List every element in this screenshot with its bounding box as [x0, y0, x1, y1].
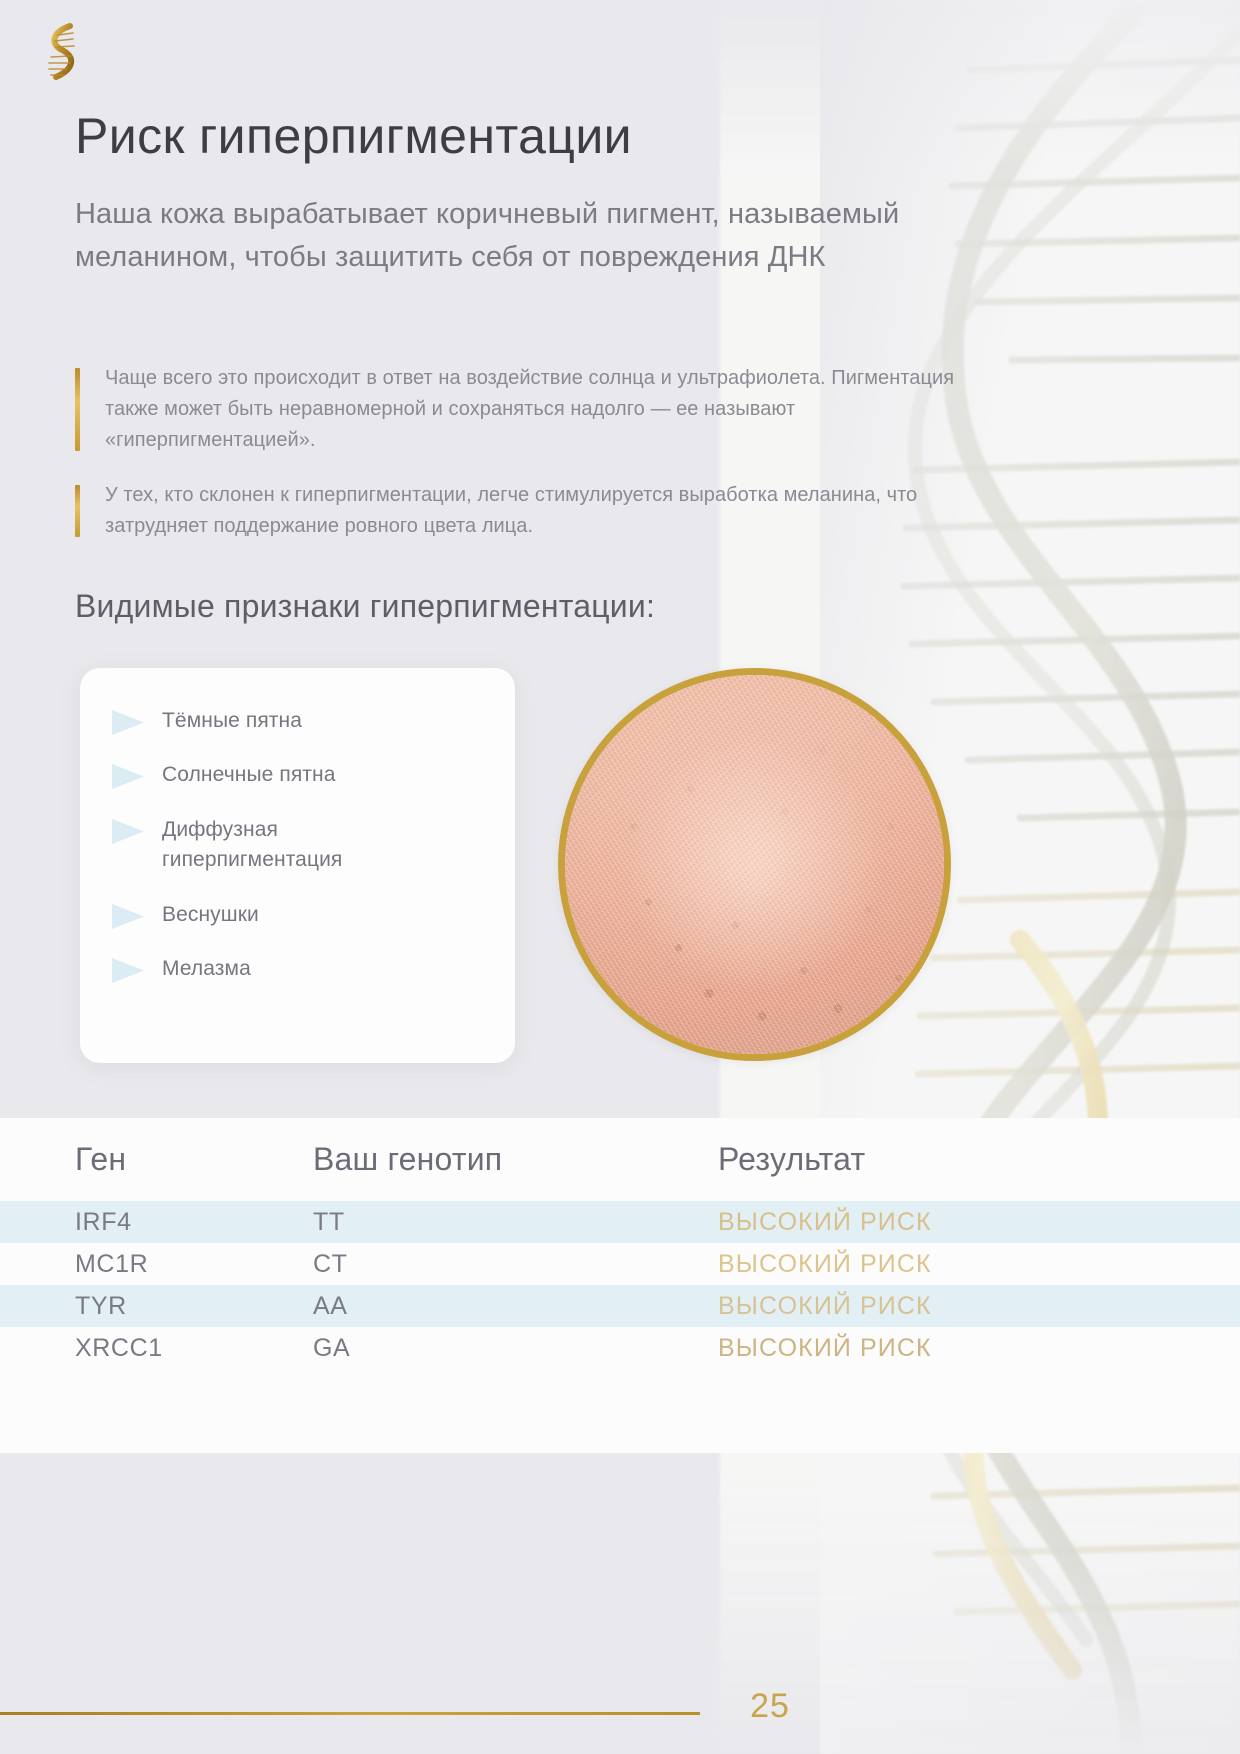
cell-genotype: TT	[313, 1208, 718, 1237]
triangle-right-icon	[110, 709, 146, 736]
list-item: Тёмные пятна	[110, 706, 515, 736]
list-item: Мелазма	[110, 954, 515, 984]
column-header-result: Результат	[718, 1141, 1240, 1178]
table-row: TYR AA ВЫСОКИЙ РИСК	[0, 1285, 1240, 1327]
list-item-label: Тёмные пятна	[162, 706, 302, 736]
highlight-paragraph-1: Чаще всего это происходит в ответ на воз…	[75, 363, 1005, 456]
cell-gene: XRCC1	[0, 1334, 313, 1363]
column-header-gene: Ген	[0, 1141, 313, 1178]
table-row: IRF4 TT ВЫСОКИЙ РИСК	[0, 1201, 1240, 1243]
status-badge: ВЫСОКИЙ РИСК	[718, 1208, 1240, 1237]
list-item: Солнечные пятна	[110, 760, 515, 790]
status-badge: ВЫСОКИЙ РИСК	[718, 1292, 1240, 1321]
cell-gene: MC1R	[0, 1250, 313, 1279]
list-item: Диффузная гиперпигментация	[110, 815, 515, 876]
highlight-paragraph-2: У тех, кто склонен к гиперпигментации, л…	[75, 480, 1005, 542]
cell-gene: IRF4	[0, 1208, 313, 1237]
list-item-label: Веснушки	[162, 900, 259, 930]
footer-divider	[0, 1712, 700, 1715]
list-item-label: Мелазма	[162, 954, 251, 984]
dna-helix-icon	[36, 22, 90, 84]
cell-genotype: GA	[313, 1334, 718, 1363]
cell-gene: TYR	[0, 1292, 313, 1321]
column-header-genotype: Ваш генотип	[313, 1141, 718, 1178]
signs-card: Тёмные пятна Солнечные пятна Диффузная г…	[80, 668, 515, 1063]
triangle-right-icon	[110, 763, 146, 790]
page-title: Риск гиперпигментации	[75, 108, 632, 164]
page-number: 25	[735, 1687, 805, 1726]
triangle-right-icon	[110, 957, 146, 984]
list-item-label: Диффузная гиперпигментация	[162, 815, 372, 876]
signs-section-heading: Видимые признаки гиперпигментации:	[75, 588, 655, 625]
triangle-right-icon	[110, 903, 146, 930]
signs-list: Тёмные пятна Солнечные пятна Диффузная г…	[80, 668, 515, 985]
cell-genotype: CT	[313, 1250, 718, 1279]
cell-genotype: AA	[313, 1292, 718, 1321]
page-subtitle: Наша кожа вырабатывает коричневый пигмен…	[75, 193, 975, 279]
table-row: MC1R CT ВЫСОКИЙ РИСК	[0, 1243, 1240, 1285]
status-badge: ВЫСОКИЙ РИСК	[718, 1334, 1240, 1363]
list-item-label: Солнечные пятна	[162, 760, 336, 790]
table-row: XRCC1 GA ВЫСОКИЙ РИСК	[0, 1327, 1240, 1369]
status-badge: ВЫСОКИЙ РИСК	[718, 1250, 1240, 1279]
table-bottom-spacer	[0, 1369, 1240, 1453]
genotype-results-table: Ген Ваш генотип Результат IRF4 TT ВЫСОКИ…	[0, 1118, 1240, 1453]
table-header-row: Ген Ваш генотип Результат	[0, 1118, 1240, 1201]
list-item: Веснушки	[110, 900, 515, 930]
triangle-right-icon	[110, 818, 146, 845]
skin-hyperpigmentation-photo	[558, 668, 951, 1061]
